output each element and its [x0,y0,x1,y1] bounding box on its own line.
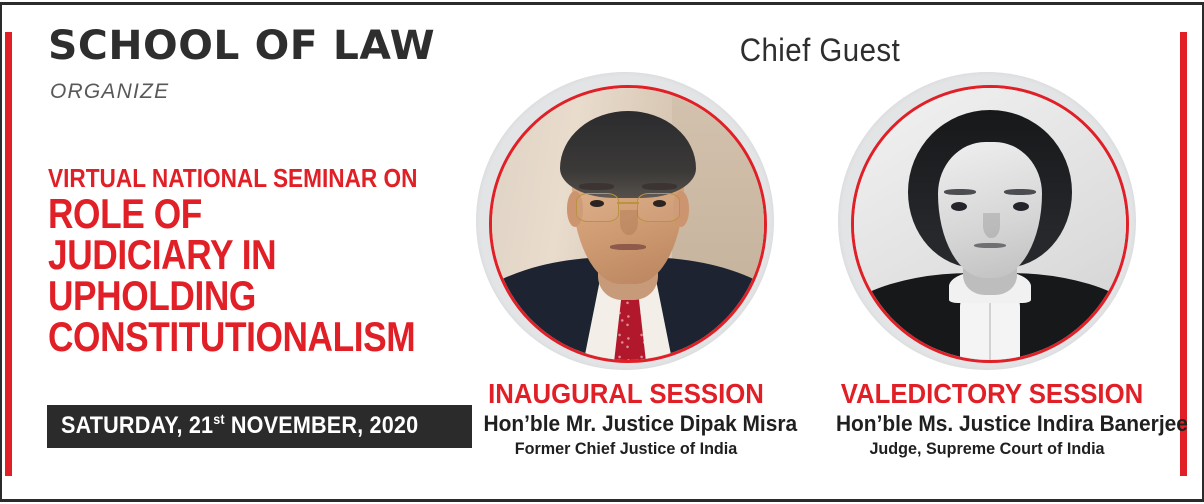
guest-name: Hon’ble Ms. Justice Indira Banerjee [836,412,1138,436]
date-day: SATURDAY, 21 [61,412,213,439]
guest-role: Judge, Supreme Court of India [836,440,1138,459]
guest-photo-ring [838,72,1136,370]
bottom-border-rule [0,499,1204,502]
portrait-illustration [854,88,1126,360]
chief-guest-label: Chief Guest [710,32,931,69]
date-text: SATURDAY, 21st NOVEMBER, 2020 [61,412,418,440]
guest-name: Hon’ble Mr. Justice Dipak Misra [484,412,769,436]
left-border-rule [0,2,2,502]
guest-photo-ring [476,72,774,370]
organize-label: ORGANIZE [50,80,468,104]
date-badge: SATURDAY, 21st NOVEMBER, 2020 [47,405,472,448]
guest-role: Former Chief Justice of India [484,440,769,459]
guest-card-valedictory: VALEDICTORY SESSION Hon’ble Ms. Justice … [838,72,1138,458]
session-label: VALEDICTORY SESSION [841,379,1134,408]
seminar-title-line-4: CONSTITUTIONALISM [48,316,409,357]
organizer-block: SCHOOL OF LAW ORGANIZE [48,26,468,104]
seminar-kicker: VIRTUAL NATIONAL SEMINAR ON [48,165,422,191]
seminar-title-block: VIRTUAL NATIONAL SEMINAR ON ROLE OF JUDI… [48,165,478,358]
left-red-accent-bar [5,32,12,476]
right-red-accent-bar [1180,32,1187,476]
portrait-illustration [492,88,764,360]
date-rest: NOVEMBER, 2020 [225,412,419,439]
seminar-title: ROLE OF JUDICIARY IN UPHOLDING CONSTITUT… [48,193,409,358]
guest-card-inaugural: INAUGURAL SESSION Hon’ble Mr. Justice Di… [476,72,776,458]
session-label: INAUGURAL SESSION [488,379,764,408]
date-ordinal-suffix: st [213,411,224,427]
seminar-banner: SCHOOL OF LAW ORGANIZE VIRTUAL NATIONAL … [0,0,1204,504]
guest-photo-indira-banerjee [851,85,1129,363]
seminar-title-line-2: JUDICIARY IN [48,234,409,275]
guest-photo-dipak-misra [489,85,767,363]
seminar-title-line-1: ROLE OF [48,193,409,234]
top-border-rule [0,2,1204,5]
seminar-title-line-3: UPHOLDING [48,275,409,316]
guest-caption: INAUGURAL SESSION Hon’ble Mr. Justice Di… [476,379,776,458]
school-name: SCHOOL OF LAW [48,26,476,66]
guest-caption: VALEDICTORY SESSION Hon’ble Ms. Justice … [828,379,1146,458]
